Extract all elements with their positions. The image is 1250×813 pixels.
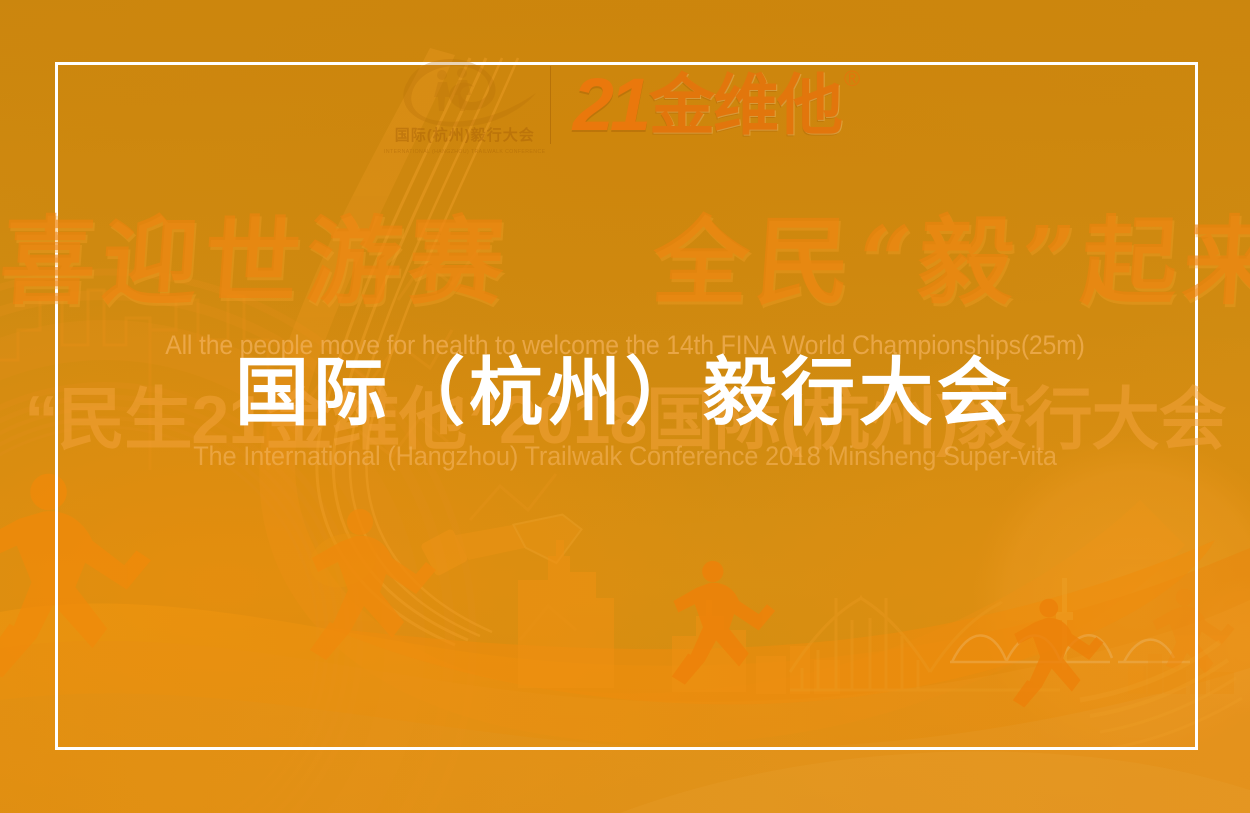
trailwalk-logo-english: INTERNATIONAL (HANGZHOU) TRAILWALK CONFE… (384, 149, 545, 155)
jinweita-brand-logo: 21 金维他 ® (573, 62, 861, 148)
trailwalk-emblem-logo: 国际(杭州)毅行大会 INTERNATIONAL (HANGZHOU) TRAI… (390, 55, 540, 155)
trailwalk-logo-chinese: 国际(杭州)毅行大会 (395, 124, 535, 145)
calligraphy-slogan-right: 全民“毅”起来 (649, 205, 1250, 318)
calligraphy-slogan: 喜迎世游赛 全民“毅”起来 (0, 212, 1250, 313)
poster-canvas: 国际(杭州)毅行大会 INTERNATIONAL (HANGZHOU) TRAI… (0, 0, 1250, 813)
calligraphy-slogan-left: 喜迎世游赛 (0, 205, 514, 318)
page-title: 国际（杭州）毅行大会 (0, 356, 1250, 430)
header-logo-row: 国际(杭州)毅行大会 INTERNATIONAL (HANGZHOU) TRAI… (0, 55, 1250, 155)
logo-divider (550, 66, 551, 144)
brand-number: 21 (573, 68, 647, 142)
brand-chinese: 金维他 (649, 72, 841, 138)
english-subtitle: The International (Hangzhou) Trailwalk C… (38, 443, 1213, 470)
registered-trademark-icon: ® (844, 68, 860, 90)
trailwalk-swoosh-icon (390, 55, 540, 133)
